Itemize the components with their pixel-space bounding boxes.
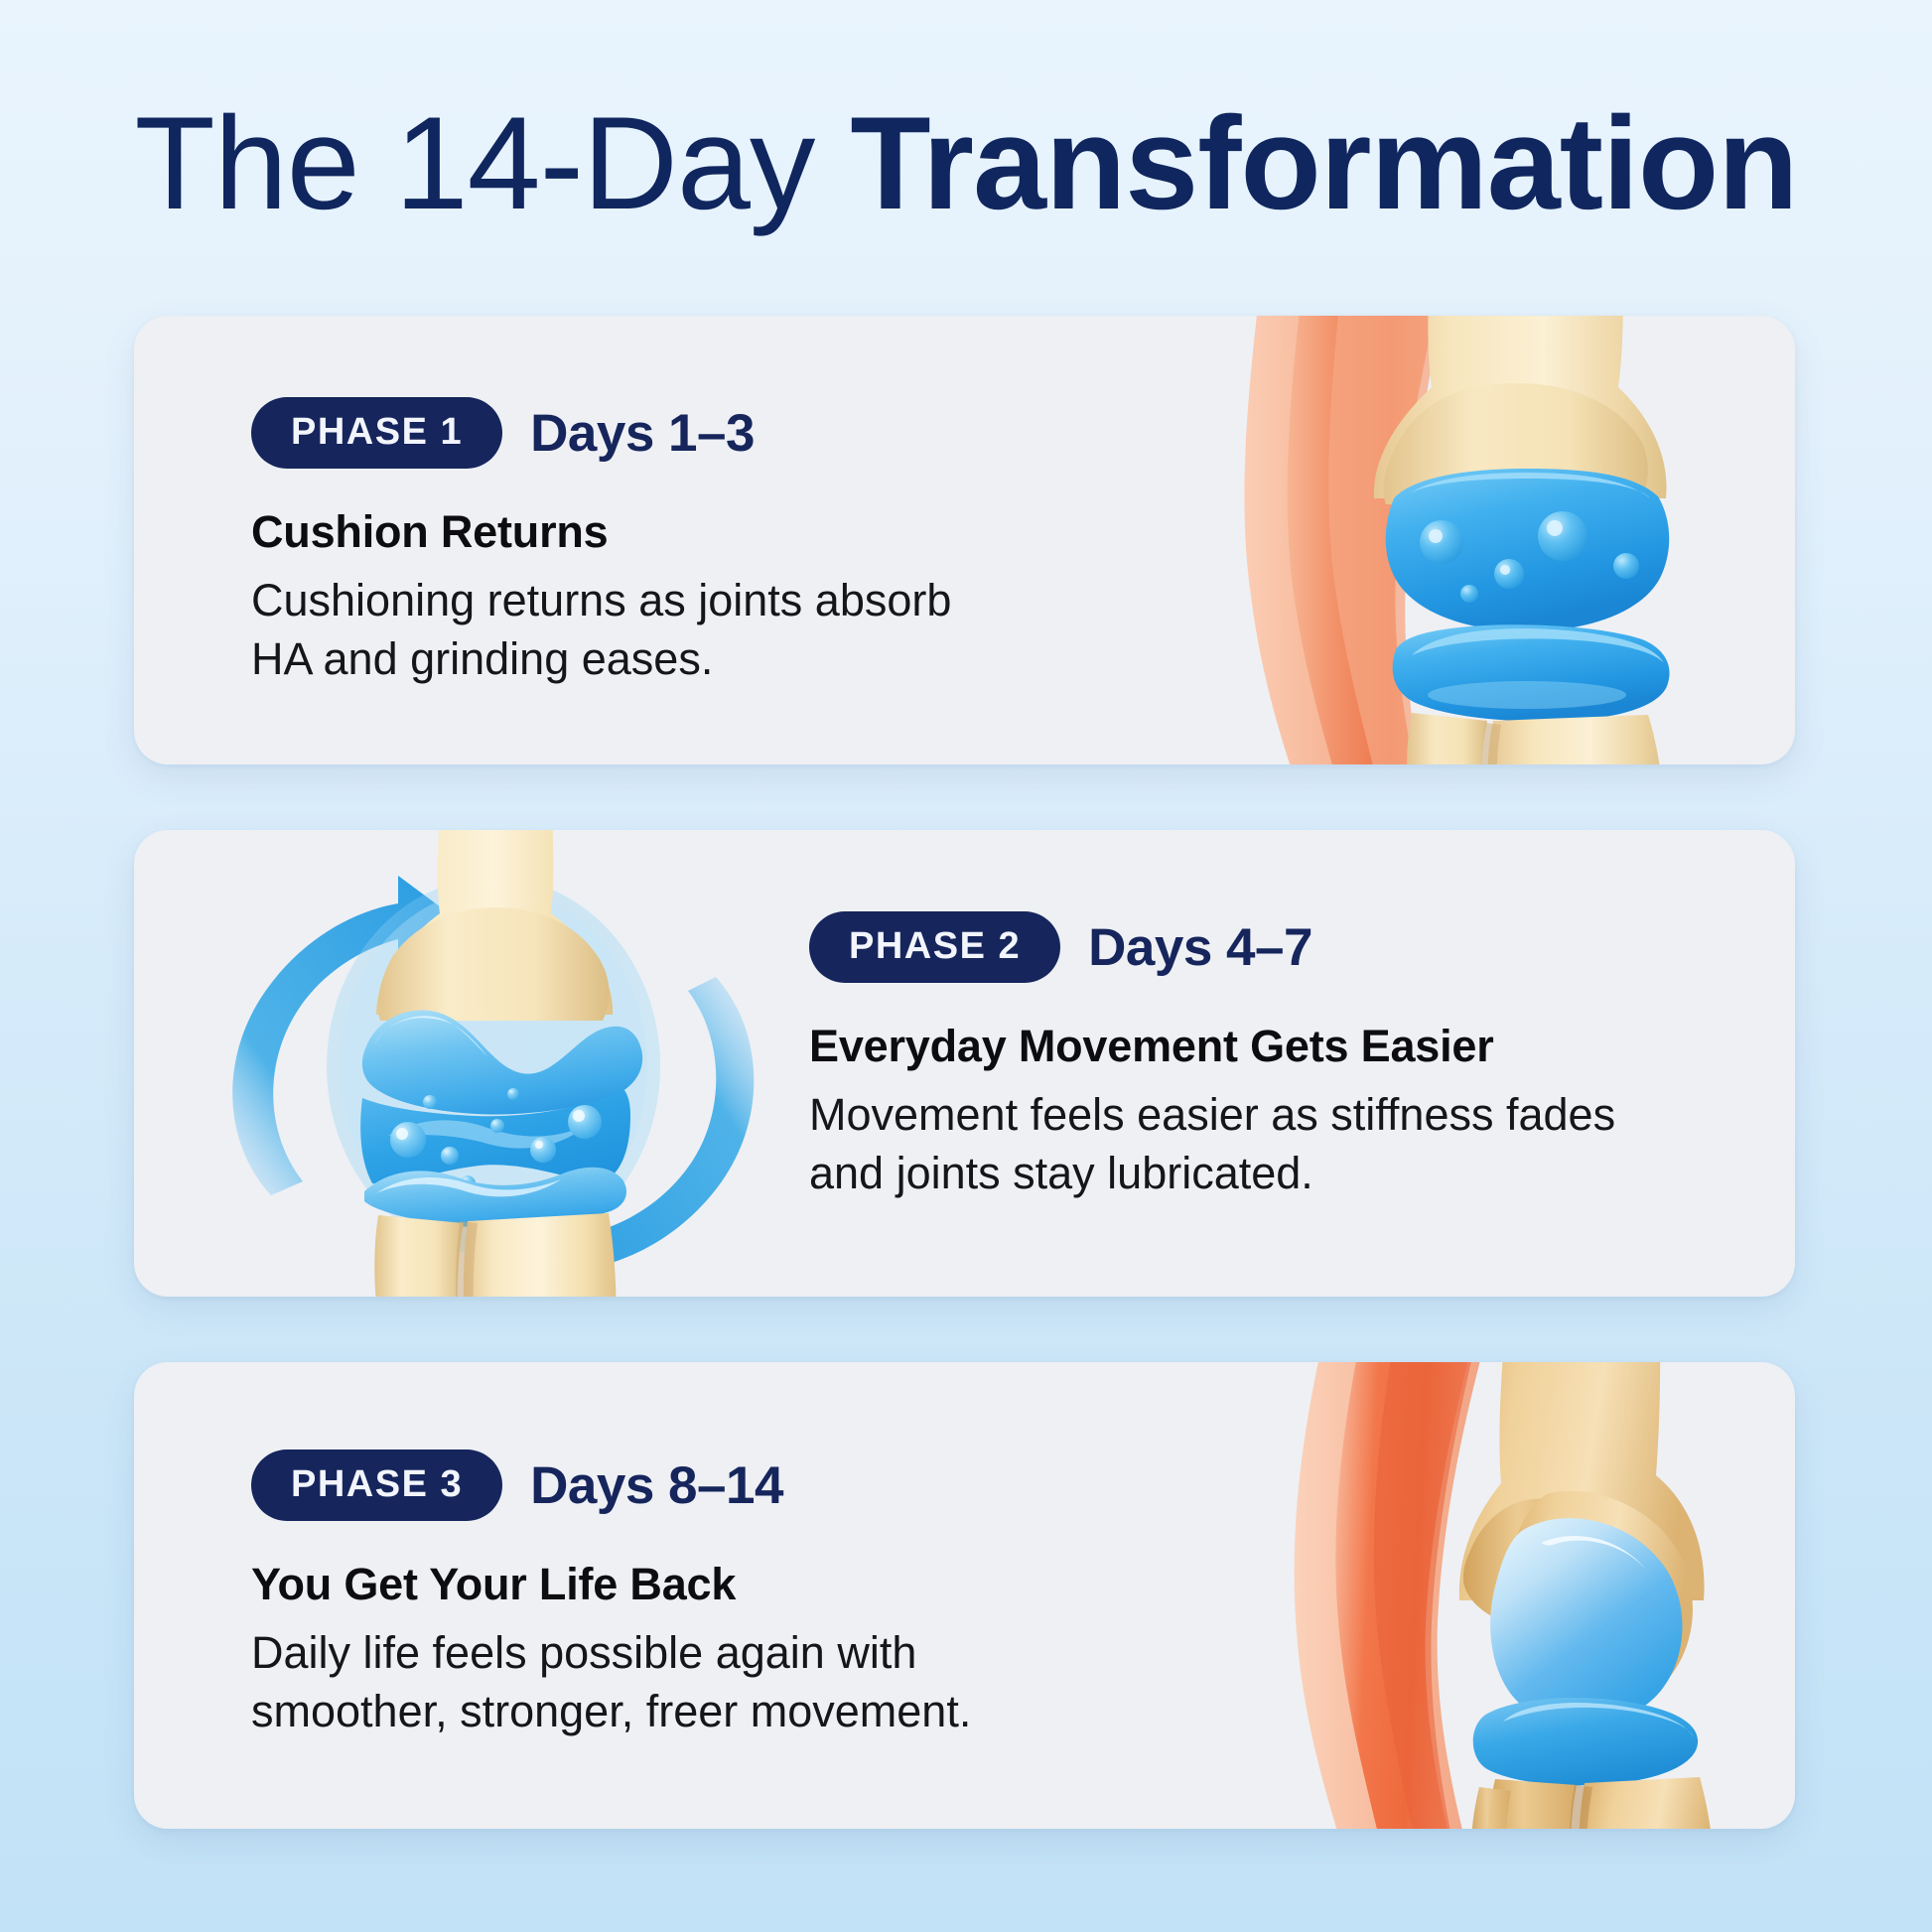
- card-3-text-column: PHASE 3 Days 8–14 You Get Your Life Back…: [251, 1449, 1115, 1740]
- card-3-phase-row: PHASE 3 Days 8–14: [251, 1449, 1115, 1521]
- knee-joint-anterior-illustration: [1199, 316, 1755, 764]
- phase-badge-1: PHASE 1: [251, 397, 502, 469]
- page-title-bold: Transformation: [850, 90, 1797, 237]
- card-heading-2: Everyday Movement Gets Easier: [809, 1021, 1703, 1072]
- card-body-1: Cushioning returns as joints absorb HA a…: [251, 572, 1095, 688]
- phase-badge-2: PHASE 2: [809, 911, 1060, 983]
- card-body-3-line-1: Daily life feels possible again with: [251, 1624, 1115, 1683]
- phase-card-2[interactable]: PHASE 2 Days 4–7 Everyday Movement Gets …: [134, 830, 1795, 1297]
- card-heading-3: You Get Your Life Back: [251, 1559, 1115, 1610]
- page-title-light: The 14-Day: [135, 90, 851, 237]
- card-body-2-line-2: and joints stay lubricated.: [809, 1145, 1703, 1203]
- phase-card-1[interactable]: PHASE 1 Days 1–3 Cushion Returns Cushion…: [134, 316, 1795, 764]
- phase-days-3: Days 8–14: [530, 1455, 783, 1516]
- card-body-2-line-1: Movement feels easier as stiffness fades: [809, 1086, 1703, 1145]
- card-body-2: Movement feels easier as stiffness fades…: [809, 1086, 1703, 1202]
- page-title: The 14-Day Transformation: [0, 95, 1932, 234]
- infographic-page: The 14-Day Transformation: [0, 0, 1932, 1932]
- card-1-text-column: PHASE 1 Days 1–3 Cushion Returns Cushion…: [251, 397, 1095, 688]
- phase-days-1: Days 1–3: [530, 403, 755, 464]
- phase-badge-3: PHASE 3: [251, 1449, 502, 1521]
- phase-card-3[interactable]: PHASE 3 Days 8–14 You Get Your Life Back…: [134, 1362, 1795, 1829]
- card-body-1-line-1: Cushioning returns as joints absorb: [251, 572, 1095, 630]
- card-body-3: Daily life feels possible again with smo…: [251, 1624, 1115, 1740]
- card-heading-1: Cushion Returns: [251, 506, 1095, 558]
- knee-joint-lateral-illustration: [1160, 1362, 1755, 1829]
- card-2-text-column: PHASE 2 Days 4–7 Everyday Movement Gets …: [809, 911, 1703, 1202]
- card-1-phase-row: PHASE 1 Days 1–3: [251, 397, 1095, 469]
- card-body-1-line-2: HA and grinding eases.: [251, 630, 1095, 689]
- card-body-3-line-2: smoother, stronger, freer movement.: [251, 1683, 1115, 1741]
- phase-days-2: Days 4–7: [1088, 917, 1312, 978]
- card-2-phase-row: PHASE 2 Days 4–7: [809, 911, 1703, 983]
- knee-joint-rotation-illustration: [164, 830, 819, 1297]
